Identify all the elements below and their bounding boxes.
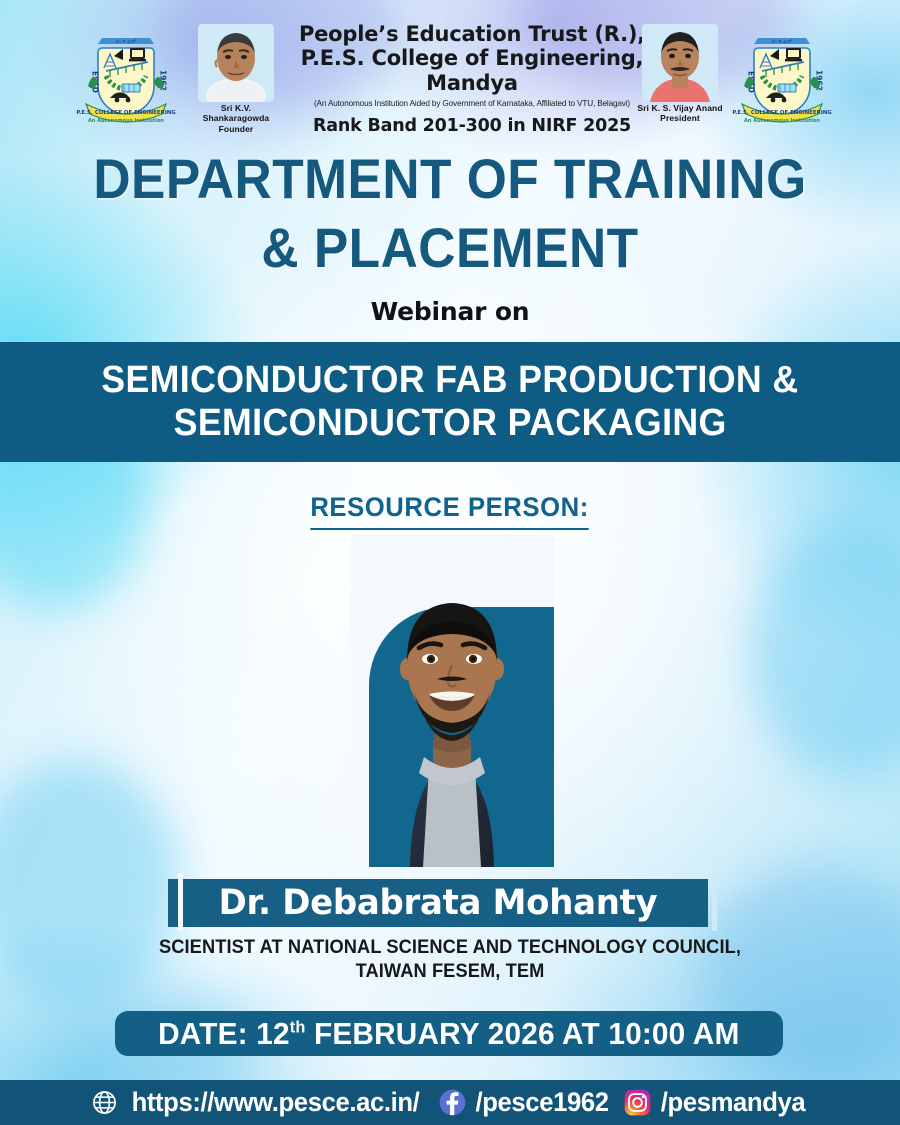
topic-line1: SEMICONDUCTOR FAB PRODUCTION &: [101, 359, 798, 402]
poster-footer: https://www.pesce.ac.in/ /pesce1962: [0, 1080, 900, 1125]
founder-role: Founder: [219, 124, 254, 134]
accreditation-line: (An Autonomous Institution Aided by Gove…: [282, 99, 662, 108]
instagram-icon: [624, 1089, 651, 1116]
speaker-name: Dr. Debabrata Mohanty: [176, 879, 700, 927]
college-name: P.E.S. College of Engineering, Mandya: [282, 46, 662, 95]
event-kicker: Webinar on: [0, 297, 900, 326]
trust-name: People’s Education Trust (R.),: [282, 22, 662, 46]
president-name: Sri K. S. Vijay Anand: [637, 103, 722, 113]
department-title-line1: DEPARTMENT OF TRAINING: [93, 147, 806, 210]
facebook-icon: [439, 1089, 466, 1116]
instagram-link[interactable]: /pesmandya: [624, 1087, 809, 1118]
founder-caption: Sri K.V. Shankaragowda Founder: [190, 103, 282, 134]
facebook-handle: /pesce1962: [475, 1087, 608, 1118]
instagram-handle: /pesmandya: [661, 1087, 805, 1118]
nameplate-right-bar: [712, 873, 717, 931]
speaker-nameplate: Dr. Debabrata Mohanty: [168, 879, 708, 927]
topic-line2: SEMICONDUCTOR PACKAGING: [173, 402, 726, 445]
svg-text:An Autonomous Institution: An Autonomous Institution: [88, 118, 164, 124]
event-date-suffix: FEBRUARY 2026 AT 10:00 AM: [306, 1016, 740, 1051]
event-date-badge: DATE: 12th FEBRUARY 2026 AT 10:00 AM: [115, 1011, 783, 1056]
founder-photo: [198, 24, 274, 102]
president-role: President: [660, 113, 700, 123]
globe-icon: [91, 1089, 118, 1116]
webinar-poster: ಪಿ.ಇ.ಎಸ್ ESTD 1962 P.E.: [0, 0, 900, 1125]
svg-text:P.E.S. COLLEGE OF ENGINEERING: P.E.S. COLLEGE OF ENGINEERING: [76, 110, 176, 116]
department-title: DEPARTMENT OF TRAINING & PLACEMENT: [36, 150, 864, 276]
speaker-designation: SCIENTIST AT NATIONAL SCIENCE AND TECHNO…: [18, 936, 882, 985]
svg-text:An Autonomous Institution: An Autonomous Institution: [744, 118, 820, 124]
website-url: https://www.pesce.ac.in/: [131, 1087, 419, 1118]
institution-header-text: People’s Education Trust (R.), P.E.S. Co…: [282, 22, 662, 136]
event-date-prefix: DATE: 12: [158, 1016, 290, 1051]
svg-text:ಪಿ.ಇ.ಎಸ್: ಪಿ.ಇ.ಎಸ್: [116, 38, 137, 45]
president-photo: [642, 24, 718, 102]
speaker-designation-line2: TAIWAN FESEM, TEM: [18, 960, 882, 984]
svg-text:P.E.S. COLLEGE OF ENGINEERING: P.E.S. COLLEGE OF ENGINEERING: [732, 110, 832, 116]
facebook-link[interactable]: /pesce1962: [439, 1087, 612, 1118]
event-date-text: DATE: 12th FEBRUARY 2026 AT 10:00 AM: [158, 1016, 739, 1052]
nirf-rank-line: Rank Band 201-300 in NIRF 2025: [282, 116, 662, 136]
college-crest-icon-left: ಪಿ.ಇ.ಎಸ್ ESTD 1962 P.E.: [76, 26, 176, 126]
event-date-ordinal: th: [290, 1017, 306, 1036]
svg-text:ಪಿ.ಇ.ಎಸ್: ಪಿ.ಇ.ಎಸ್: [772, 38, 793, 45]
president-caption: Sri K. S. Vijay Anand President: [634, 103, 726, 124]
founder-portrait-block: Sri K.V. Shankaragowda Founder: [190, 24, 282, 134]
president-portrait-block: Sri K. S. Vijay Anand President: [634, 24, 726, 124]
speaker-designation-line1: SCIENTIST AT NATIONAL SCIENCE AND TECHNO…: [18, 936, 882, 960]
department-title-line2: & PLACEMENT: [36, 219, 864, 276]
topic-banner: SEMICONDUCTOR FAB PRODUCTION & SEMICONDU…: [0, 342, 900, 462]
college-crest-icon-right: ಪಿ.ಇ.ಎಸ್ ESTD 1962 P.E.: [732, 26, 832, 126]
resource-person-heading-wrap: RESOURCE PERSON:: [0, 492, 900, 530]
founder-name: Sri K.V. Shankaragowda: [203, 103, 270, 123]
resource-person-heading: RESOURCE PERSON:: [311, 492, 589, 530]
speaker-photo: [351, 535, 554, 867]
poster-header: ಪಿ.ಇ.ಎಸ್ ESTD 1962 P.E.: [0, 8, 900, 130]
website-link[interactable]: https://www.pesce.ac.in/: [91, 1087, 427, 1118]
